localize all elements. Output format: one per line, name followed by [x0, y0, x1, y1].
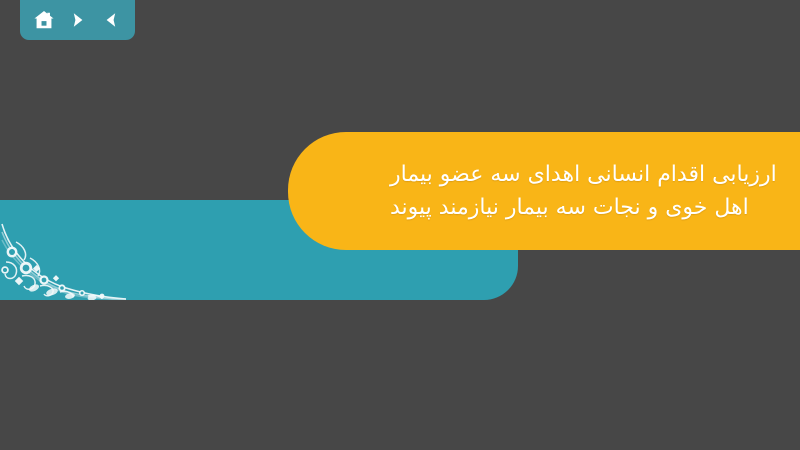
- forward-icon: [68, 10, 88, 30]
- slide-canvas: ارزیابی اقدام انسانی اهدای سه عضو بیمار …: [0, 0, 800, 450]
- back-icon: [101, 10, 121, 30]
- title-text-block: ارزیابی اقدام انسانی اهدای سه عضو بیمار …: [390, 132, 800, 250]
- navigation-bar: [20, 0, 135, 40]
- arabesque-corner-ornament: [0, 218, 128, 300]
- home-button[interactable]: [31, 7, 57, 33]
- title-panel: ارزیابی اقدام انسانی اهدای سه عضو بیمار …: [288, 132, 800, 250]
- forward-button[interactable]: [65, 7, 91, 33]
- home-icon: [33, 9, 55, 31]
- title-line-2: اهل خوی و نجات سه بیمار نیازمند پیوند: [390, 193, 749, 222]
- title-line-1: ارزیابی اقدام انسانی اهدای سه عضو بیمار: [390, 160, 777, 189]
- back-button[interactable]: [98, 7, 124, 33]
